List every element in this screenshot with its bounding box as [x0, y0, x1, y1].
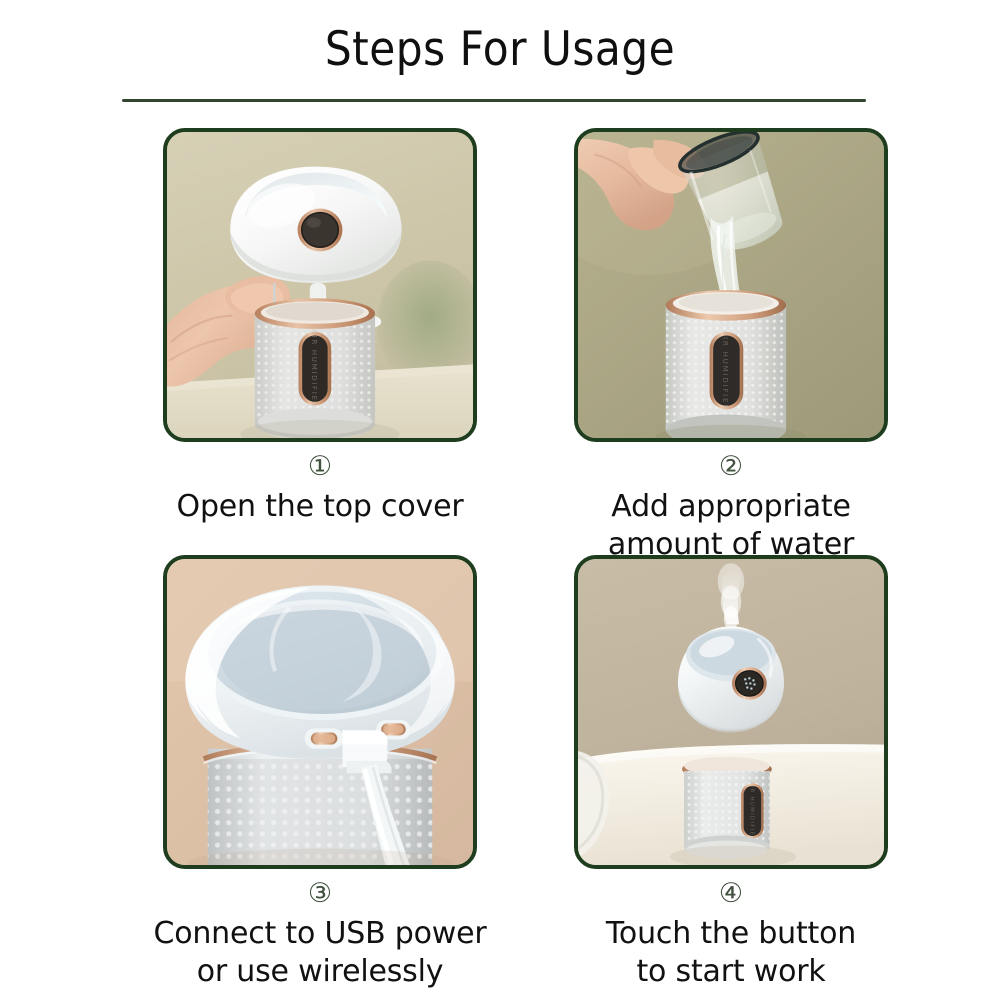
connect-usb-photo [163, 555, 477, 869]
step-caption-4-line-1: Touch the button [548, 915, 914, 953]
step-index-2: ② [548, 451, 914, 483]
step-caption-3-line-2: or use wirelessly [137, 953, 503, 991]
step-caption-4: Touch the button to start work [548, 915, 914, 991]
steps-grid: AIR HUMIDIFIER ① Open the top cover [0, 128, 1000, 1000]
add-water-photo: AIR HUMIDIFIER [574, 128, 888, 442]
touch-button-photo: AIR HUMIDIFIER [574, 555, 888, 869]
step-card-2: AIR HUMIDIFIER ② Add appropriate amount … [548, 128, 914, 564]
step-index-1: ① [137, 451, 503, 483]
step-caption-3-line-1: Connect to USB power [137, 915, 503, 953]
svg-text:AIR HUMIDIFIER: AIR HUMIDIFIER [310, 329, 319, 408]
open-top-cover-photo: AIR HUMIDIFIER [163, 128, 477, 442]
step-card-1: AIR HUMIDIFIER ① Open the top cover [137, 128, 503, 526]
step-caption-2-line-1: Add appropriate [548, 488, 914, 526]
steps-for-usage-infographic: Steps For Usage [0, 0, 1000, 1000]
step-caption-1-line-1: Open the top cover [137, 488, 503, 526]
step-index-3: ③ [137, 878, 503, 910]
step-index-4: ④ [548, 878, 914, 910]
step-caption-3: Connect to USB power or use wirelessly [137, 915, 503, 991]
step-card-3: ③ Connect to USB power or use wirelessly [137, 555, 503, 991]
step-caption-4-line-2: to start work [548, 953, 914, 991]
svg-text:AIR HUMIDIFIER: AIR HUMIDIFIER [721, 330, 730, 411]
step-card-4: AIR HUMIDIFIER ④ Touch the button to sta… [548, 555, 914, 991]
step-caption-2: Add appropriate amount of water [548, 488, 914, 564]
page-title: Steps For Usage [0, 22, 1000, 78]
step-caption-1: Open the top cover [137, 488, 503, 526]
svg-text:AIR HUMIDIFIER: AIR HUMIDIFIER [748, 781, 754, 842]
title-divider [122, 99, 866, 102]
